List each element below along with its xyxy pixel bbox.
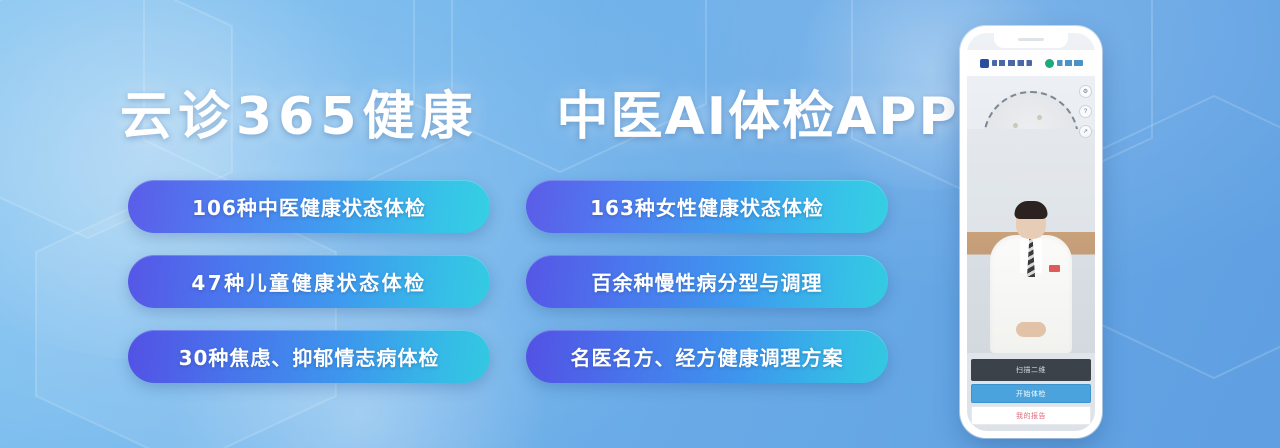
headline-left: 云诊365健康: [120, 74, 479, 149]
feature-pill-label: 163种女性健康状态体检: [590, 192, 824, 221]
leaf-dot-icon: [1013, 123, 1018, 128]
app-start-exam-button[interactable]: 开始体检: [971, 384, 1091, 403]
doctor-avatar: [967, 129, 1095, 353]
phone-screen: ⚙ ? ↗ 扫描二维 开始体检 我的报告: [967, 33, 1095, 431]
feature-pill-label: 30种焦虑、抑郁情志病体检: [179, 342, 440, 371]
feature-pill[interactable]: 163种女性健康状态体检: [526, 180, 888, 233]
settings-icon[interactable]: ⚙: [1079, 85, 1092, 98]
app-action-stack: 扫描二维 开始体检 我的报告: [971, 359, 1091, 425]
feature-pill[interactable]: 百余种慢性病分型与调理: [526, 255, 888, 308]
share-icon[interactable]: ↗: [1079, 125, 1092, 138]
avatar-hair: [1015, 201, 1048, 219]
brand-wordmark-secondary: [1057, 60, 1083, 66]
phone-notch: [994, 33, 1068, 48]
avatar-hands: [1016, 322, 1046, 337]
brand-mark-icon: [980, 59, 989, 68]
brand-logo-primary: [980, 59, 1032, 68]
feature-pill-columns: 106种中医健康状态体检 47种儿童健康状态体检 30种焦虑、抑郁情志病体检 1…: [128, 180, 888, 383]
feature-column-left: 106种中医健康状态体检 47种儿童健康状态体检 30种焦虑、抑郁情志病体检: [128, 180, 490, 383]
leaf-dot-icon: [1037, 115, 1042, 120]
help-icon[interactable]: ?: [1079, 105, 1092, 118]
feature-pill-label: 名医名方、经方健康调理方案: [571, 342, 844, 371]
avatar-figure: [988, 203, 1074, 353]
avatar-badge: [1049, 265, 1060, 272]
app-header: [967, 50, 1095, 76]
feature-column-right: 163种女性健康状态体检 百余种慢性病分型与调理 名医名方、经方健康调理方案: [526, 180, 888, 383]
brand-mark-green-icon: [1045, 59, 1054, 68]
app-my-report-button[interactable]: 我的报告: [971, 406, 1091, 425]
feature-pill[interactable]: 47种儿童健康状态体检: [128, 255, 490, 308]
feature-pill-label: 47种儿童健康状态体检: [191, 267, 426, 296]
promo-banner: 云诊365健康 中医AI体检APP 106种中医健康状态体检 47种儿童健康状态…: [0, 0, 1280, 448]
feature-pill-label: 106种中医健康状态体检: [192, 192, 426, 221]
brand-wordmark: [992, 60, 1032, 66]
feature-pill[interactable]: 106种中医健康状态体检: [128, 180, 490, 233]
screen-side-icons: ⚙ ? ↗: [1079, 85, 1092, 138]
app-scan-button[interactable]: 扫描二维: [971, 359, 1091, 381]
brand-logo-secondary: [1045, 59, 1083, 68]
feature-pill[interactable]: 30种焦虑、抑郁情志病体检: [128, 330, 490, 383]
feature-pill[interactable]: 名医名方、经方健康调理方案: [526, 330, 888, 383]
headline: 云诊365健康 中医AI体检APP: [120, 74, 959, 149]
feature-pill-label: 百余种慢性病分型与调理: [592, 267, 823, 296]
phone-mockup: ⚙ ? ↗ 扫描二维 开始体检 我的报告: [960, 26, 1102, 438]
headline-right: 中医AI体检APP: [557, 74, 959, 149]
speaker-grille-icon: [1018, 38, 1044, 41]
